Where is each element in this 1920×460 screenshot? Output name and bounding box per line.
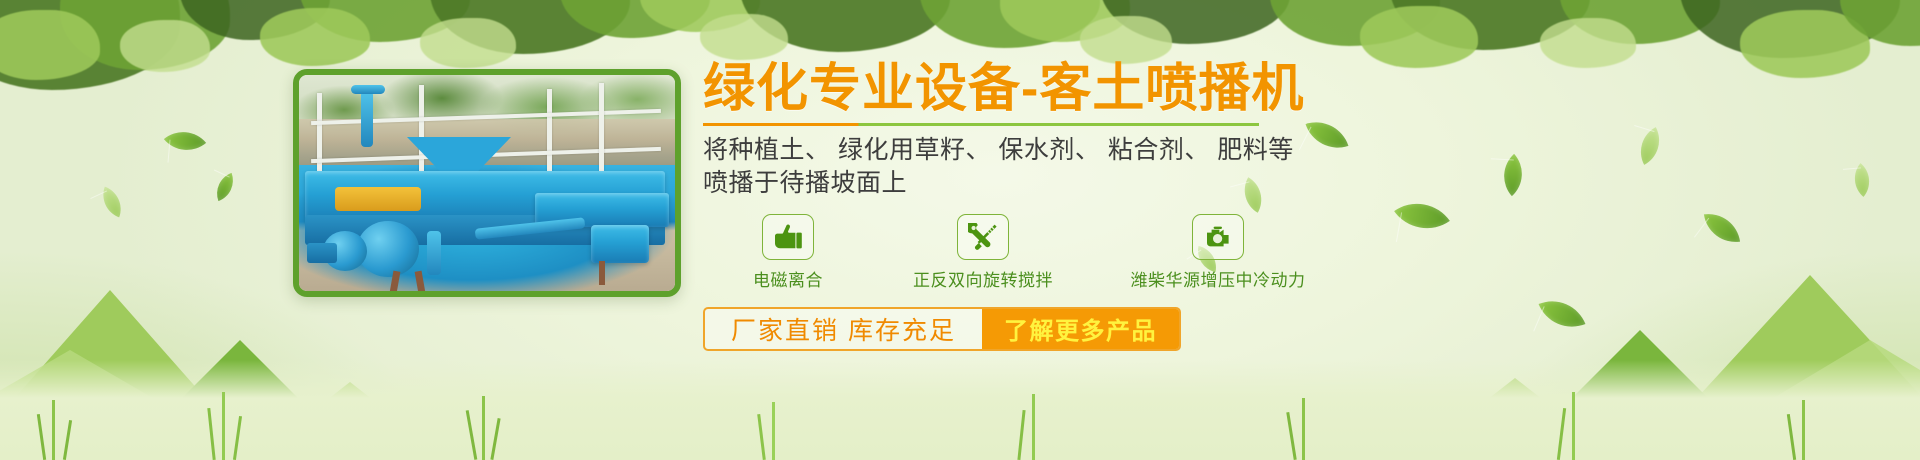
feature-icon-box-1 <box>762 214 814 260</box>
page-title: 绿化专业设备-客土喷播机 <box>703 62 1703 117</box>
cta-slogan: 厂家直销 库存充足 <box>705 309 982 349</box>
thumbs-up-icon <box>773 224 803 250</box>
title-underline <box>703 123 1259 126</box>
learn-more-button[interactable]: 了解更多产品 <box>982 309 1179 349</box>
feature-icon-box-2 <box>957 214 1009 260</box>
feature-label-3: 潍柴华源增压中冷动力 <box>1093 266 1343 291</box>
tools-icon <box>968 223 998 251</box>
feature-item-3: 潍柴华源增压中冷动力 <box>1093 214 1343 291</box>
ground-decoration <box>0 360 1920 460</box>
feature-item-1: 电磁离合 <box>703 214 873 291</box>
feature-icon-box-3 <box>1192 214 1244 260</box>
product-photo <box>293 69 681 297</box>
feature-label-2: 正反双向旋转搅拌 <box>873 266 1093 291</box>
feature-list: 电磁离合 正 <box>703 214 1703 291</box>
feature-item-2: 正反双向旋转搅拌 <box>873 214 1093 291</box>
subtitle-line-2: 喷播于待播坡面上 <box>703 167 1703 200</box>
engine-icon <box>1202 224 1234 250</box>
banner-content: 绿化专业设备-客土喷播机 将种植土、 绿化用草籽、 保水剂、 粘合剂、 肥料等 … <box>703 62 1703 351</box>
promo-banner: 绿化专业设备-客土喷播机 将种植土、 绿化用草籽、 保水剂、 粘合剂、 肥料等 … <box>0 0 1920 460</box>
subtitle-line-1: 将种植土、 绿化用草籽、 保水剂、 粘合剂、 肥料等 <box>703 134 1703 167</box>
cta-strip: 厂家直销 库存充足 了解更多产品 <box>703 307 1181 351</box>
feature-label-1: 电磁离合 <box>703 266 873 291</box>
